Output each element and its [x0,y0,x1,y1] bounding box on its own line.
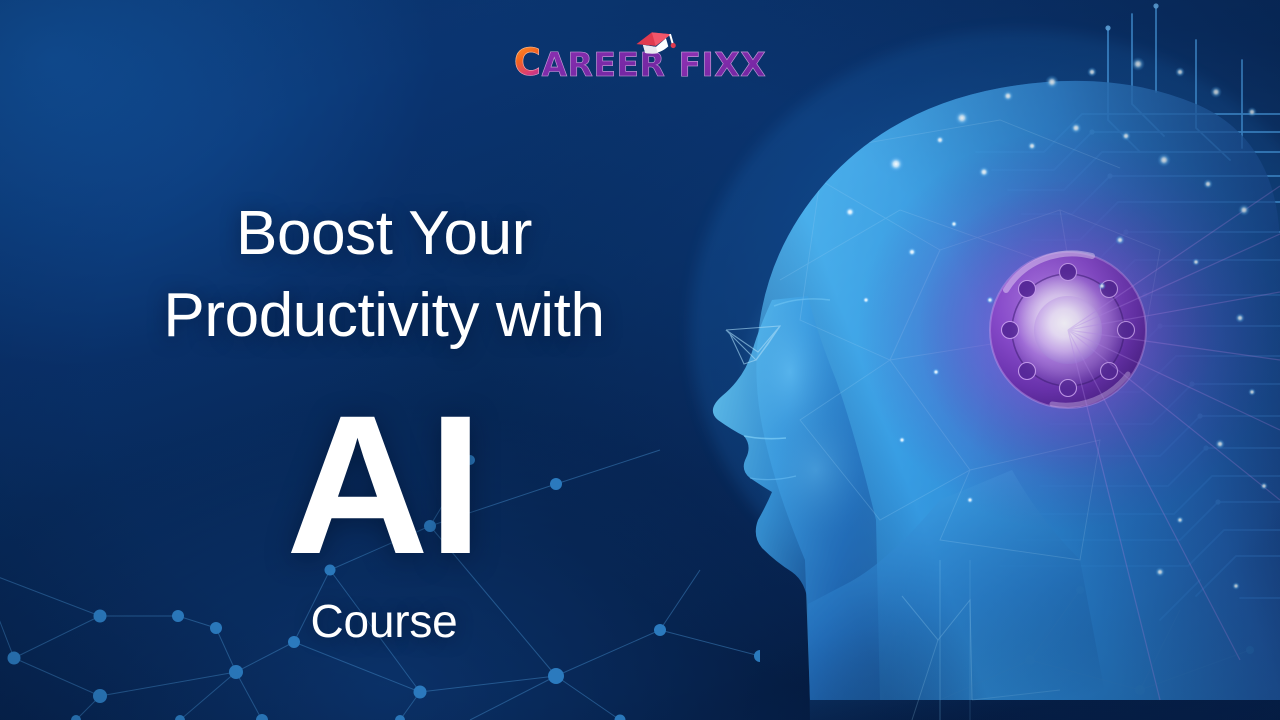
ai-course-promo-banner: C AREER FIXX Boost Your Productivity wit… [0,0,1280,720]
logo-letter-c: C [514,44,542,81]
logo-text-fixx: FIXX [678,48,766,81]
background-vignette [0,0,1280,720]
careerfixx-logo[interactable]: C AREER FIXX [514,44,766,81]
graduation-cap-icon [634,28,676,58]
